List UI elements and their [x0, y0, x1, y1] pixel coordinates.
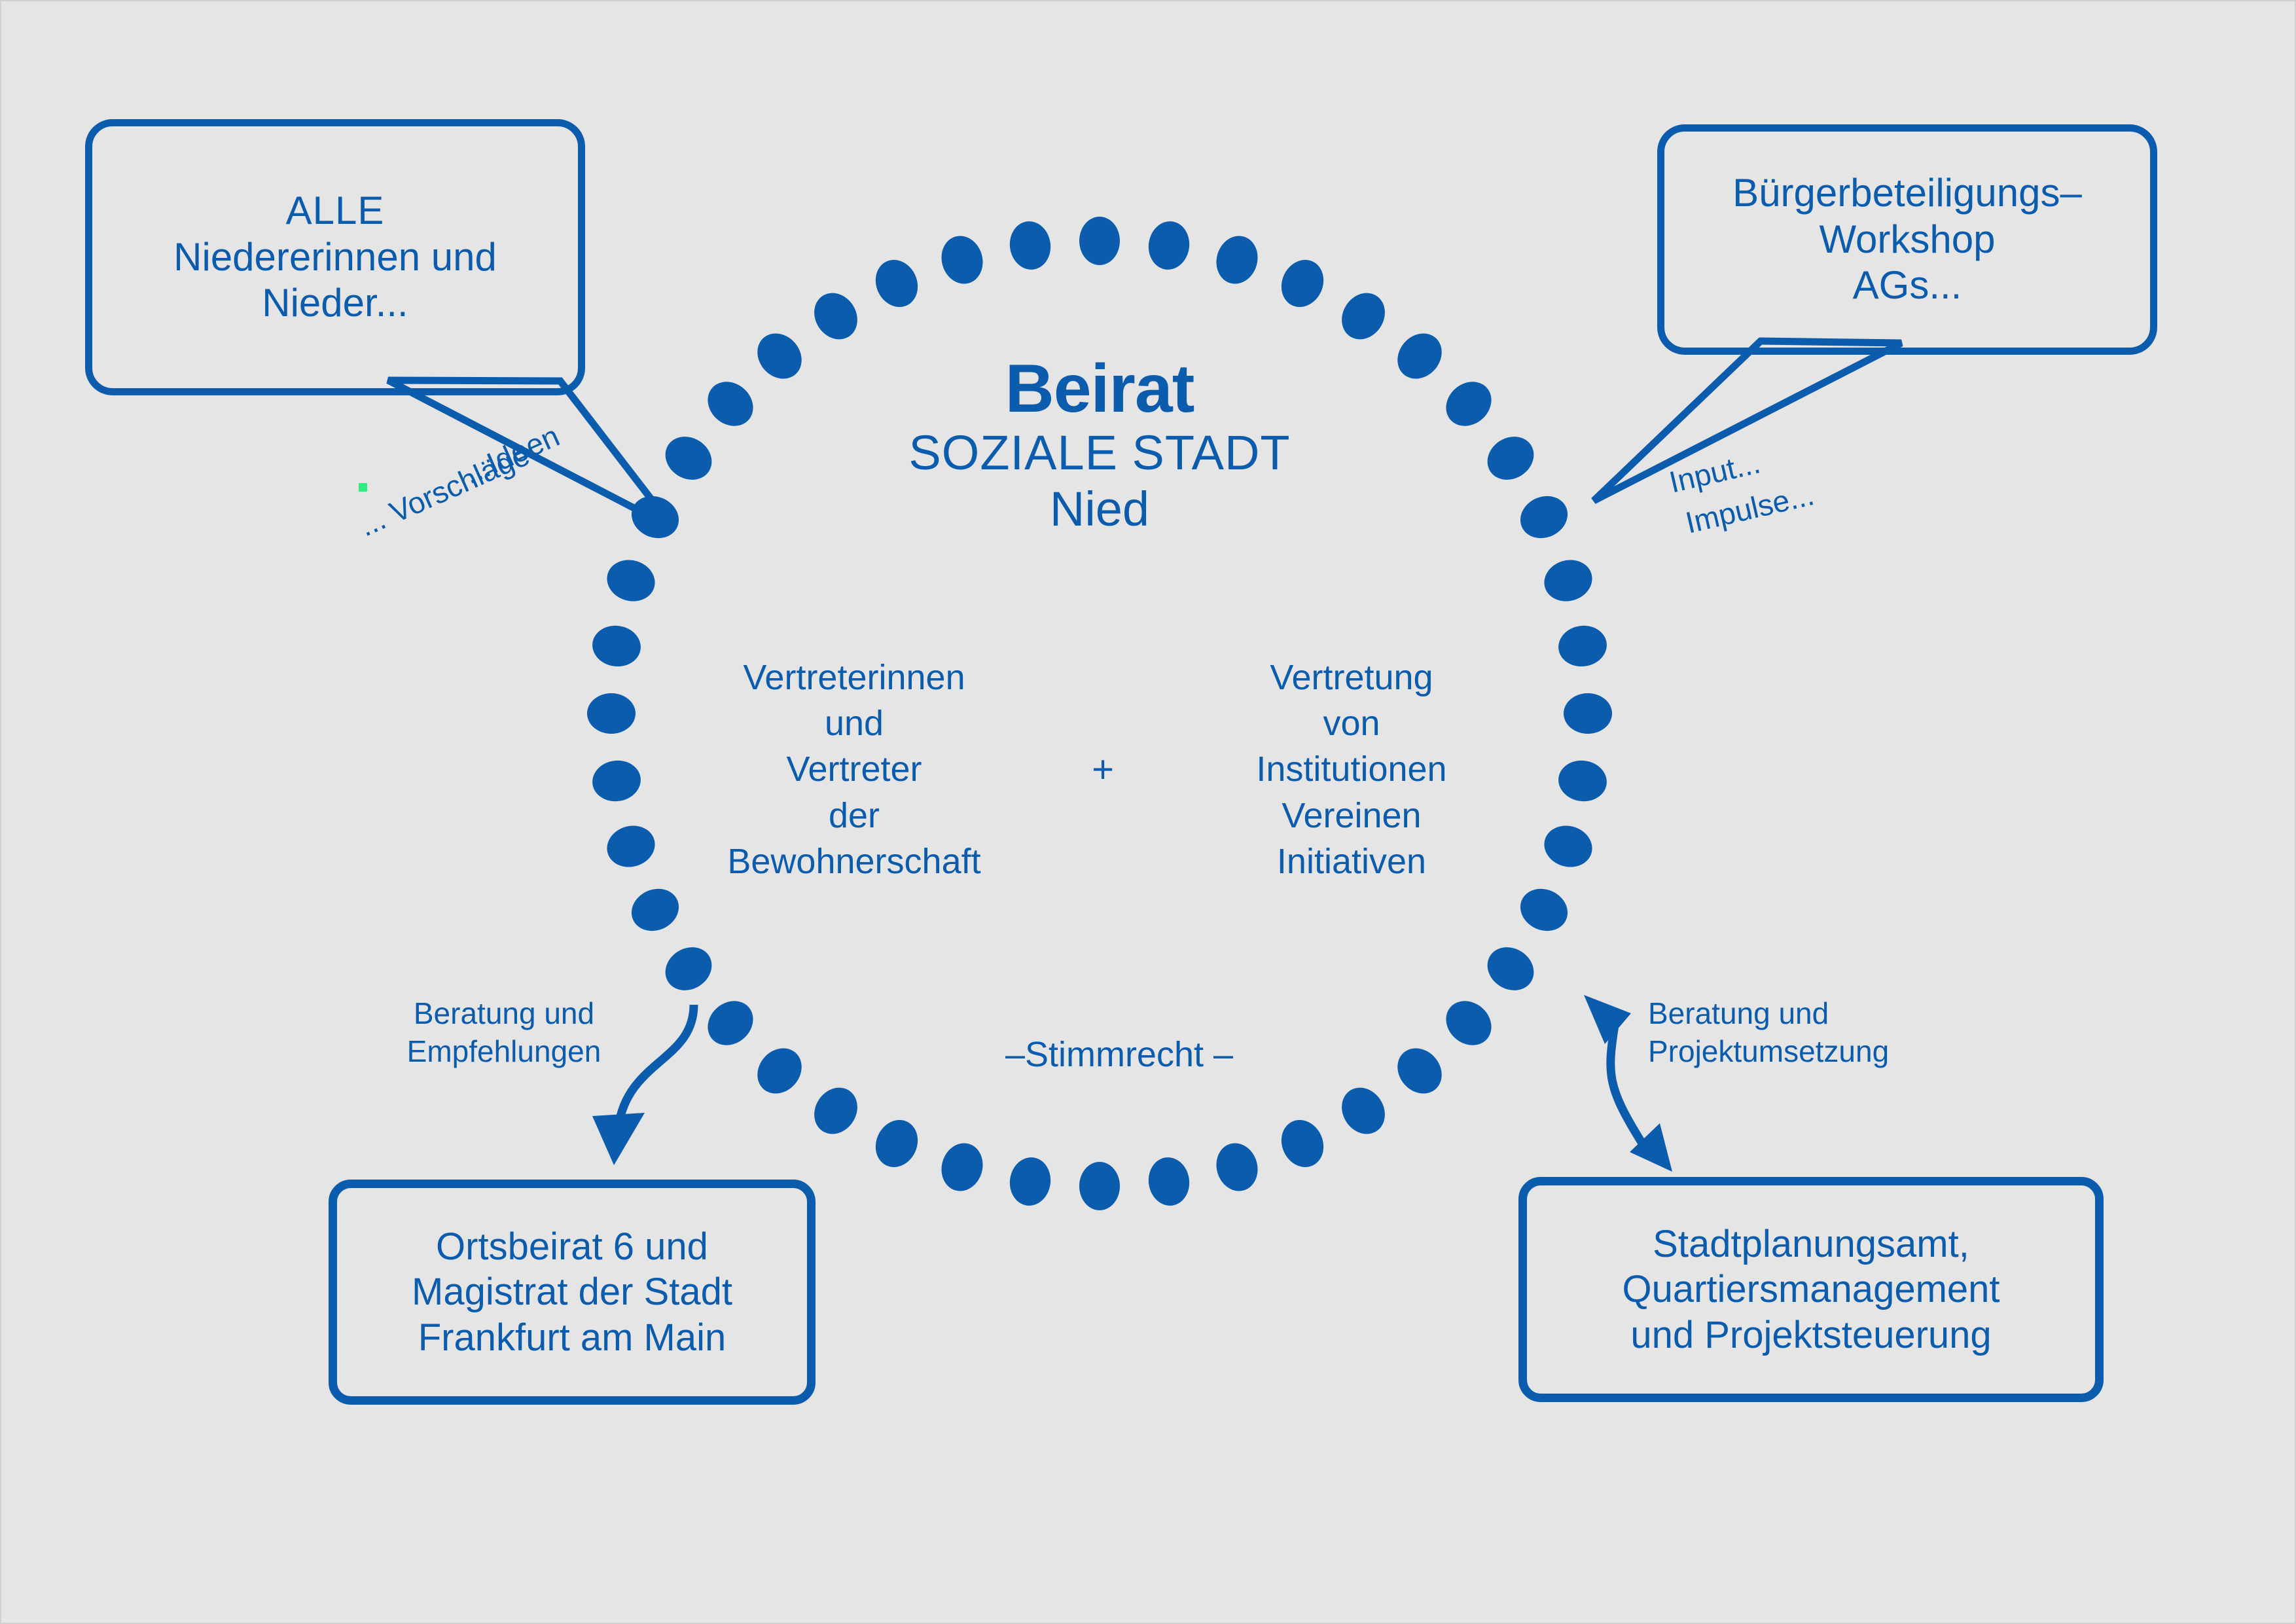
circle-dot — [1079, 1162, 1120, 1210]
column-residents-line: Bewohnerschaft — [681, 839, 1028, 884]
circle-dot — [1388, 1039, 1450, 1102]
circle-dot — [1437, 992, 1501, 1054]
circle-dot — [1564, 693, 1612, 734]
circle-dot — [587, 693, 636, 734]
speech-bubble-participation: Bürgerbeteiligungs– Workshop AGs... — [1657, 124, 2157, 355]
circle-dot — [1539, 820, 1597, 873]
column-residents-line: Vertreter — [681, 746, 1028, 792]
circle-dot — [1333, 285, 1393, 348]
plus-operator: + — [1073, 748, 1132, 791]
column-institutions-line: Vereinen — [1178, 793, 1525, 839]
annotation-left-line-2: Empfehlungen — [367, 1033, 641, 1071]
green-marker-dot — [359, 483, 367, 492]
column-institutions-line: von — [1178, 700, 1525, 746]
circle-dot — [869, 1113, 925, 1174]
circle-dot — [1274, 253, 1331, 314]
page-title: Beirat — [687, 353, 1512, 425]
circle-dot — [1556, 757, 1609, 804]
diagram-canvas: Beirat SOZIALE STADT Nied Vertreterinnen… — [0, 0, 2296, 1624]
circle-dot — [1274, 1113, 1331, 1174]
column-institutions-line: Initiativen — [1178, 839, 1525, 884]
bubble-right-line-1: Bürgerbeteiligungs– — [1732, 170, 2082, 217]
circle-dot — [806, 285, 866, 348]
arrow-right-shaft — [1611, 1021, 1641, 1142]
circle-dot — [602, 820, 660, 873]
circle-dot — [590, 757, 643, 804]
box-stadtplanungsamt: Stadtplanungsamt, Quartiersmanagement un… — [1518, 1177, 2104, 1402]
circle-dot — [1513, 881, 1574, 938]
circle-dot — [1007, 1155, 1054, 1208]
bubble-left-line-3: Nieder... — [262, 280, 408, 327]
circle-dot — [1556, 623, 1609, 670]
composition-columns: Vertreterinnen und Vertreter der Bewohne… — [681, 655, 1525, 884]
circle-dot — [1479, 939, 1542, 999]
center-text-block: Beirat SOZIALE STADT Nied — [687, 353, 1512, 537]
circle-dot — [1007, 219, 1054, 272]
subtitle-line-1: SOZIALE STADT — [687, 425, 1512, 481]
subtitle-line-2: Nied — [687, 481, 1512, 537]
column-institutions: Vertretung von Institutionen Vereinen In… — [1178, 655, 1525, 884]
annotation-left-line-1: Beratung und — [367, 995, 641, 1033]
circle-dot — [1079, 217, 1120, 265]
circle-dot — [936, 231, 988, 289]
circle-dot — [936, 1138, 988, 1196]
circle-dot — [1539, 554, 1597, 606]
column-residents-line: und — [681, 700, 1028, 746]
annotation-beratung-empfehlungen: Beratung und Empfehlungen — [367, 995, 641, 1071]
bubble-left-line-2: Niedererinnen und — [173, 234, 497, 281]
column-residents-line: der — [681, 793, 1028, 839]
annotation-beratung-projektumsetzung: Beratung und Projektumsetzung — [1648, 995, 1962, 1071]
column-residents: Vertreterinnen und Vertreter der Bewohne… — [681, 655, 1028, 884]
circle-dot — [602, 554, 660, 606]
voting-rights-note: –Stimmrecht – — [916, 1034, 1322, 1075]
circle-dot — [1145, 1155, 1193, 1208]
circle-dot — [806, 1079, 866, 1142]
circle-dot — [1145, 219, 1193, 272]
circle-dot — [590, 623, 643, 670]
annotation-right-line-1: Beratung und — [1648, 995, 1962, 1033]
circle-dot — [658, 939, 721, 999]
speech-bubble-residents: ALLE Niedererinnen und Nieder... — [85, 119, 585, 395]
bubble-right-line-2: Workshop — [1819, 217, 1995, 263]
box-bottom-right-line-1: Stadtplanungsamt, — [1653, 1221, 1969, 1267]
circle-dot — [625, 488, 686, 545]
annotation-right-line-2: Projektumsetzung — [1648, 1033, 1962, 1071]
circle-dot — [699, 992, 762, 1054]
box-bottom-left-line-3: Frankfurt am Main — [418, 1315, 726, 1361]
arrow-right-head-down — [1630, 1123, 1672, 1172]
column-institutions-line: Institutionen — [1178, 746, 1525, 792]
box-bottom-left-line-1: Ortsbeirat 6 und — [436, 1224, 708, 1270]
circle-dot — [1333, 1079, 1393, 1142]
box-bottom-right-line-3: und Projektsteuerung — [1630, 1312, 1991, 1358]
column-institutions-line: Vertretung — [1178, 655, 1525, 700]
box-bottom-right-line-2: Quartiersmanagement — [1622, 1267, 2000, 1312]
circle-dot — [1211, 231, 1263, 289]
bubble-left-line-1: ALLE — [286, 188, 385, 234]
circle-dot — [749, 1039, 811, 1102]
circle-dot — [869, 253, 925, 314]
box-ortsbeirat-magistrat: Ortsbeirat 6 und Magistrat der Stadt Fra… — [329, 1180, 816, 1405]
circle-dot — [625, 881, 686, 938]
bubble-right-line-3: AGs... — [1853, 262, 1962, 309]
circle-dot — [1211, 1138, 1263, 1196]
label-vorschlaege: ... Vorschläge — [353, 437, 535, 545]
box-bottom-left-line-2: Magistrat der Stadt — [412, 1269, 732, 1315]
circle-dot — [1513, 488, 1574, 545]
column-residents-line: Vertreterinnen — [681, 655, 1028, 700]
